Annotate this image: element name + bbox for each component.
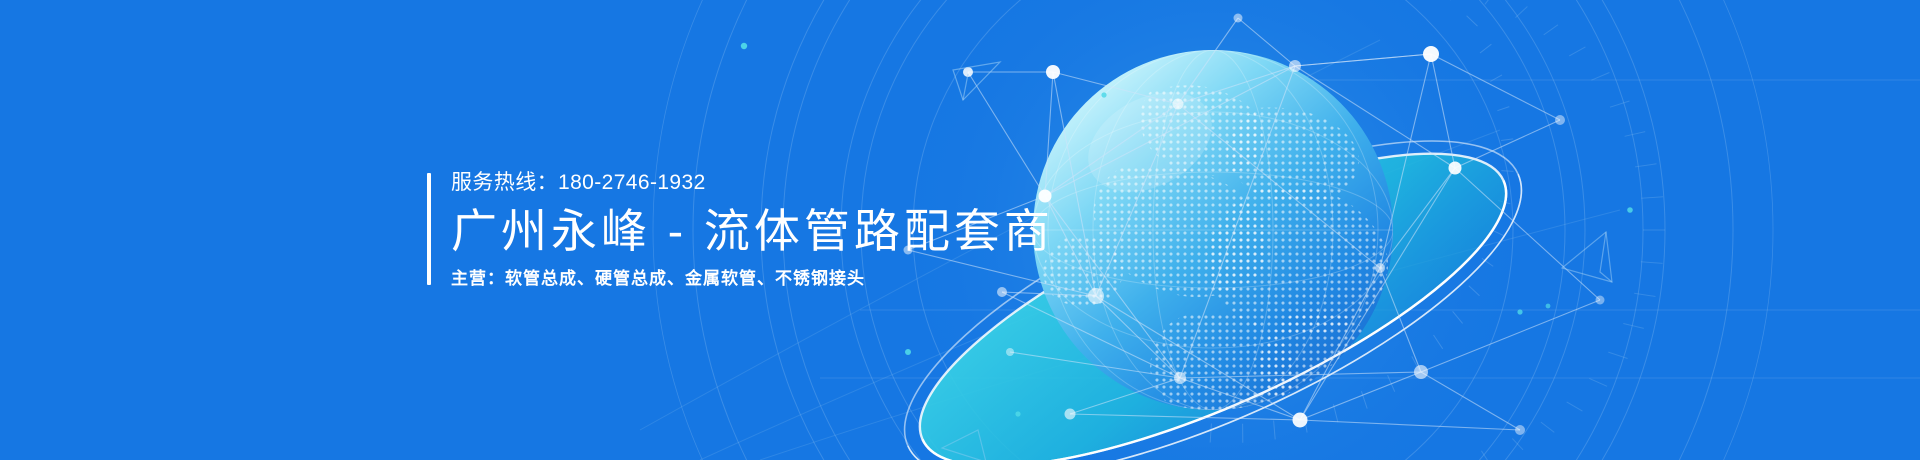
- accent-bar: [427, 173, 431, 285]
- product-tagline: 主营：软管总成、硬管总成、金属软管、不锈钢接头: [451, 268, 1054, 290]
- service-hotline: 服务热线：180-2746-1932: [451, 170, 1054, 196]
- page-title: 广州永峰 - 流体管路配套商: [451, 203, 1054, 259]
- hero-banner: 服务热线：180-2746-1932 广州永峰 - 流体管路配套商 主营：软管总…: [0, 0, 1920, 460]
- hero-text-block: 服务热线：180-2746-1932 广州永峰 - 流体管路配套商 主营：软管总…: [427, 170, 1054, 288]
